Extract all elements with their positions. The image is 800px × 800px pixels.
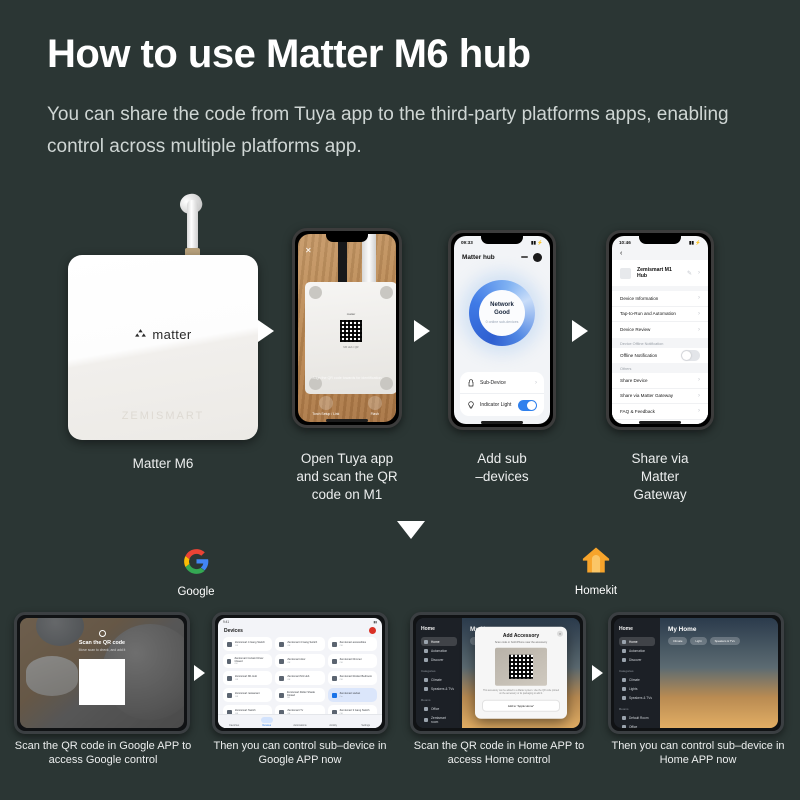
- tab-icon: [261, 717, 273, 723]
- settings-row[interactable]: FAQ & Feedback ›: [612, 404, 708, 420]
- sidebar-item-lights[interactable]: Lights: [619, 684, 655, 693]
- settings-row[interactable]: Share Device ›: [612, 373, 708, 389]
- network-status-ring: Network Good 0 online sub-devices: [454, 265, 550, 361]
- google-devices-screen: 9:41 ▮▮ Devices Zemismart 4 Gang SwitchO…: [218, 618, 382, 728]
- phone-notch: [639, 235, 681, 244]
- device-state: Off: [287, 697, 321, 699]
- discover-icon: [424, 658, 428, 662]
- google-logo-icon: [183, 548, 210, 575]
- sidebar-item-label: Climate: [629, 678, 640, 682]
- sidebar-item-label: Climate: [431, 678, 442, 682]
- main-header: My Home Climate Light Speakers & TVs: [660, 618, 778, 645]
- qr-code-on-device: [340, 320, 362, 342]
- caption-tablet-2: Then you can control sub–device in Googl…: [204, 739, 396, 767]
- device-card-text: Zemismart doorOff: [287, 658, 305, 663]
- row-label: Sub-Device: [480, 380, 530, 386]
- home-devices-screen: Home Home Automation Discover Categories: [614, 618, 778, 728]
- caption-step-4: Share via Matter Gateway: [592, 450, 728, 504]
- page-title: How to use Matter M6 hub: [47, 32, 531, 77]
- caption-step-2: Open Tuya app and scan the QR code on M1: [267, 450, 427, 504]
- sidebar-item-label: Speakers & TVs: [431, 687, 454, 691]
- indicator-light-toggle[interactable]: [518, 400, 537, 411]
- qr-code: [509, 655, 533, 679]
- device-state: Off: [235, 696, 260, 698]
- row-sub-device[interactable]: Sub-Device ›: [460, 372, 544, 394]
- caption-step-1: Matter M6: [73, 455, 253, 473]
- device-icon: [332, 676, 337, 681]
- settings-row[interactable]: Device Information ›: [612, 291, 708, 307]
- sidebar-title: Home: [421, 626, 457, 632]
- main-panel: My Home Climate Security Speakers & TVs …: [462, 618, 580, 728]
- sidebar-section-header: Categories: [619, 669, 655, 673]
- google-scan-screen: Scan the QR code Move scan to check, and…: [20, 618, 184, 728]
- back-button[interactable]: ‹: [612, 249, 708, 260]
- tab-label: Devices: [261, 724, 273, 727]
- status-time: 10:46: [619, 240, 631, 245]
- tablet-google-devices: 9:41 ▮▮ Devices Zemismart 4 Gang SwitchO…: [212, 612, 388, 734]
- device-header[interactable]: Zemismart M1 Hub ✎ ›: [612, 260, 708, 286]
- sidebar-item-speakers[interactable]: Speakers & TVs: [421, 684, 457, 693]
- device-card-text: Zemismart Curtain Driver ClosedOff: [234, 657, 268, 666]
- navbar-icons: [521, 253, 542, 262]
- page-subtitle: You can share the code from Tuya app to …: [47, 99, 747, 163]
- home-icon: [622, 640, 626, 644]
- device-icon: [227, 676, 232, 681]
- sidebar-item-climate[interactable]: Climate: [421, 675, 457, 684]
- plate-caption-text: M6 Hub / QR: [305, 346, 396, 349]
- sidebar-item-label: Home: [629, 640, 638, 644]
- ring-label: Network Good 0 online sub-devices: [454, 265, 550, 361]
- device-foot: [380, 286, 393, 299]
- scan-tool-label: Torch Setup / Link: [312, 412, 339, 416]
- plate-logo-text: matter: [305, 312, 396, 316]
- device-card[interactable]: Zemismart M1 HubOff: [223, 671, 272, 685]
- google-home-app: 9:41 ▮▮ Devices Zemismart 4 Gang SwitchO…: [218, 618, 382, 728]
- scan-tool-flash[interactable]: Flash: [368, 396, 382, 416]
- chevron-right-icon: ›: [698, 377, 700, 383]
- device-name: Zemismart M1 Hub: [287, 675, 309, 678]
- sidebar-item-label: Lights: [629, 687, 638, 691]
- device-icon: [227, 642, 232, 647]
- hub-actions-card: Sub-Device › Indicator Light: [460, 372, 544, 416]
- settings-group-3: Share Device › Share via Matter Gateway …: [612, 373, 708, 424]
- device-icon: [279, 642, 284, 647]
- scan-title: Scan the QR code: [79, 640, 125, 646]
- settings-row[interactable]: Device Review ›: [612, 322, 708, 338]
- app-navbar: Matter hub: [454, 249, 550, 265]
- device-icon: [227, 659, 231, 664]
- status-indicators: ▮▮ ⚡: [689, 240, 701, 246]
- bottom-tab-bar: FavoritesDevicesAutomationsActivitySetti…: [218, 714, 382, 728]
- phone-scan-qr: matter M6 Hub / QR ✕ Align the QR code t…: [292, 228, 402, 428]
- tab-label: Favorites: [228, 724, 240, 727]
- tablet-home-add-accessory: Home Home Automation Discover Categories: [410, 612, 586, 734]
- sidebar-section-header: Rooms: [619, 707, 655, 711]
- tab-icon: [327, 717, 339, 723]
- device-thumbnail: [620, 268, 631, 279]
- home-indicator: [639, 421, 681, 424]
- platform-label: Google: [166, 586, 226, 598]
- wood-table-background: matter M6 Hub / QR ✕ Align the QR code t…: [298, 234, 396, 422]
- sidebar-item-label: Discover: [431, 658, 443, 662]
- dialog-qr-area: [495, 648, 547, 686]
- sidebar: Home Home Automation Discover Categories: [416, 618, 462, 728]
- sidebar-item-label: Automation: [629, 649, 645, 653]
- arrow-step1-to-step2: [258, 320, 274, 342]
- sidebar-item-office[interactable]: Office: [421, 704, 457, 713]
- phone-scan-screen: matter M6 Hub / QR ✕ Align the QR code t…: [298, 234, 396, 422]
- device-name: Zemismart accessibles: [340, 641, 366, 644]
- row-label: Indicator Light: [480, 402, 513, 408]
- ring-line-2: Good: [494, 310, 510, 318]
- sidebar-item-label: Discover: [629, 658, 641, 662]
- device-state: Off: [287, 679, 309, 681]
- device-card-text: Zemismart 4 Gang SwitchOff: [235, 641, 265, 646]
- device-state: Off: [235, 645, 265, 647]
- settings-row[interactable]: Share via Matter Gateway ›: [612, 389, 708, 405]
- status-indicators: ▮▮ ⚡: [531, 240, 543, 246]
- sidebar-item-label: Default Room: [629, 716, 649, 720]
- tab-settings[interactable]: Settings: [360, 717, 372, 727]
- phone-matter-hub-app: 09:33 ▮▮ ⚡ Matter hub Network Good 0 o: [448, 230, 556, 430]
- settings-row[interactable]: Tap-to-Run and Automation ›: [612, 307, 708, 323]
- caption-step-3: Add sub –devices: [432, 450, 572, 486]
- chip-climate[interactable]: Climate: [668, 637, 687, 645]
- avatar[interactable]: [369, 627, 376, 634]
- device-card-text: Zemismart Roller Shade ClosedOff: [287, 691, 321, 700]
- phone-device-settings: 10:46 ▮▮ ⚡ ‹ Zemismart M1 Hub ✎ › Device…: [606, 230, 714, 430]
- device-icon: [279, 693, 284, 698]
- device-card-text: Zemismart Rocker BedroomOff: [340, 675, 372, 680]
- matter-logo: matter: [68, 327, 258, 342]
- arrow-down-to-platforms: [397, 521, 425, 539]
- discover-icon: [622, 658, 626, 662]
- home-indicator: [481, 421, 523, 424]
- sidebar-title: Home: [619, 626, 655, 632]
- device-icon: [332, 693, 337, 698]
- antenna-icon: [187, 200, 198, 252]
- home-icon: [424, 640, 428, 644]
- settings-screen: 10:46 ▮▮ ⚡ ‹ Zemismart M1 Hub ✎ › Device…: [612, 236, 708, 424]
- device-icon: [332, 642, 337, 647]
- device-card-text: Zemismart DimmerOff: [340, 658, 362, 663]
- device-card[interactable]: Zemismart accessiblesOff: [328, 637, 377, 651]
- sidebar-item-climate[interactable]: Climate: [619, 675, 655, 684]
- automation-icon: [424, 649, 428, 653]
- settings-row-offline-notification[interactable]: Offline Notification: [612, 348, 708, 364]
- settings-row-label: Offline Notification: [620, 353, 681, 358]
- add-to-apple-home-button[interactable]: Add to "Apple Home": [482, 700, 560, 712]
- sidebar-item-zemismart-room[interactable]: Zemismart room: [421, 713, 457, 726]
- dialog-title: Add Accessory: [482, 633, 560, 639]
- status-bar: 9:41 ▮▮: [218, 618, 382, 626]
- main-panel: My Home Climate Light Speakers & TVs Def…: [660, 618, 778, 728]
- device-state: Off: [234, 663, 268, 665]
- chevron-right-icon: ›: [698, 295, 700, 301]
- tab-devices[interactable]: Devices: [261, 717, 273, 727]
- offline-notification-toggle[interactable]: [681, 350, 700, 361]
- sidebar: Home Home Automation Discover Categories: [614, 618, 660, 728]
- row-indicator-light[interactable]: Indicator Light: [460, 394, 544, 416]
- sidebar-section-header: Categories: [421, 669, 457, 673]
- more-dots-icon[interactable]: [521, 256, 528, 258]
- device-card[interactable]: Zemismart restaurantOff: [223, 688, 272, 702]
- device-icon: [279, 676, 284, 681]
- light-icon: [622, 687, 626, 691]
- ring-subtext: 0 online sub-devices: [486, 320, 519, 324]
- scan-target-icon: [99, 630, 106, 637]
- device-name: Zemismart Rocker Bedroom: [340, 675, 372, 678]
- phone-notch: [481, 235, 523, 244]
- scan-tool-torch[interactable]: Torch Setup / Link: [312, 396, 339, 416]
- climate-icon: [424, 678, 428, 682]
- device-icon: [227, 693, 232, 698]
- chevron-right-icon: ›: [698, 270, 700, 276]
- scan-subtitle: Move scan to check, and add it: [79, 648, 126, 652]
- phone-notch: [326, 233, 368, 242]
- apple-home-app: Home Home Automation Discover Categories: [416, 618, 580, 728]
- room-icon: [622, 725, 626, 729]
- platform-google: Google: [166, 548, 226, 598]
- settings-group-2: Offline Notification: [612, 348, 708, 364]
- arrow-step2-to-step3: [414, 320, 430, 342]
- category-chips: Climate Light Speakers & TVs: [668, 637, 770, 645]
- device-card[interactable]: Zemismart 4 Gang SwitchOff: [223, 637, 272, 651]
- scan-toolbar: Torch Setup / Link Flash: [298, 396, 396, 416]
- tab-icon: [294, 717, 306, 723]
- device-card[interactable]: Zemismart M1 HubOff: [275, 671, 324, 685]
- room-icon: [424, 718, 428, 722]
- tab-icon: [228, 717, 240, 723]
- device-name: Zemismart M1 Hub: [637, 267, 681, 279]
- sidebar-item-label: Office: [629, 725, 637, 729]
- sidebar-item-discover[interactable]: Discover: [619, 655, 655, 664]
- arrow-step3-to-step4: [572, 320, 588, 342]
- torch-icon: [319, 396, 333, 410]
- device-state: Off: [287, 662, 305, 664]
- scan-overlay: Scan the QR code Move scan to check, and…: [20, 618, 184, 728]
- status-indicators: ▮▮: [373, 620, 377, 624]
- chip-speakers[interactable]: Speakers & TVs: [710, 637, 740, 645]
- settings-section-header: Device Offline Notification: [612, 338, 708, 348]
- dialog-subtitle: Scan code or hold iPhone near the access…: [482, 641, 560, 644]
- speaker-icon: [424, 687, 428, 691]
- chevron-right-icon: ›: [535, 380, 537, 386]
- settings-group-1: Device Information › Tap-to-Run and Auto…: [612, 291, 708, 338]
- tab-activity[interactable]: Activity: [327, 717, 339, 727]
- home-add-accessory-screen: Home Home Automation Discover Categories: [416, 618, 580, 728]
- device-card[interactable]: Zemismart Roller Shade ClosedOff: [275, 688, 324, 702]
- device-name: Zemismart 4 Gang Switch: [235, 641, 265, 644]
- device-card-text: Zemismart 4 Gang SwitchOff: [287, 641, 317, 646]
- climate-icon: [622, 678, 626, 682]
- device-settings-screen: 10:46 ▮▮ ⚡ ‹ Zemismart M1 Hub ✎ › Device…: [612, 236, 708, 424]
- device-card[interactable]: Zemismart DimmerOff: [328, 654, 377, 668]
- device-card-text: Zemismart accessiblesOff: [340, 641, 366, 646]
- tab-label: Automations: [293, 724, 306, 727]
- chip-light[interactable]: Light: [690, 637, 706, 645]
- sidebar-section-header: Rooms: [421, 698, 457, 702]
- matter-logo-text: matter: [152, 327, 191, 342]
- settings-row-label: FAQ & Feedback: [620, 409, 698, 414]
- device-card-text: Zemismart socketOn: [340, 692, 360, 697]
- sidebar-item-home[interactable]: Home: [421, 637, 457, 646]
- device-state: Off: [235, 679, 257, 681]
- device-name: Zemismart restaurant: [235, 692, 260, 695]
- devices-title: Devices: [224, 628, 243, 634]
- automation-icon: [622, 649, 626, 653]
- add-accessory-dialog: × Add Accessory Scan code or hold iPhone…: [475, 627, 567, 719]
- bulb-icon: [467, 401, 475, 409]
- device-icon: [332, 659, 337, 664]
- sidebar-item-label: Speakers & TVs: [629, 696, 652, 700]
- tablet-home-devices: Home Home Automation Discover Categories: [608, 612, 784, 734]
- settings-row-label: Device Information: [620, 296, 698, 301]
- device-card[interactable]: Zemismart Curtain Driver ClosedOff: [223, 654, 272, 668]
- device-state: Off: [287, 645, 317, 647]
- caption-tablet-3: Scan the QR code in Home APP to access H…: [404, 739, 594, 767]
- device-name: Zemismart Switch: [235, 709, 256, 712]
- home-indicator: [326, 419, 368, 422]
- scan-tool-label: Flash: [371, 412, 379, 416]
- sidebar-item-automation[interactable]: Automation: [619, 646, 655, 655]
- chevron-right-icon: ›: [698, 311, 700, 317]
- qr-code: [79, 659, 125, 705]
- device-name: Zemismart 4 Gang Switch: [287, 641, 317, 644]
- device-name: Zemismart Curtain Driver Closed: [234, 657, 268, 664]
- settings-row-label: Device Review: [620, 327, 698, 332]
- infographic-page: How to use Matter M6 hub You can share t…: [0, 0, 800, 800]
- device-state: Off: [340, 662, 362, 664]
- platform-label: Homekit: [566, 585, 626, 597]
- tab-label: Settings: [360, 724, 372, 727]
- speaker-icon: [622, 696, 626, 700]
- tab-favorites[interactable]: Favorites: [228, 717, 240, 727]
- gear-icon[interactable]: [533, 253, 542, 262]
- sidebar-item-default-room[interactable]: Default Room: [619, 713, 655, 722]
- homekit-house-icon: [581, 546, 611, 574]
- lock-icon: [467, 379, 475, 387]
- sidebar-item-label: Office: [431, 707, 439, 711]
- home-title: My Home: [668, 626, 770, 633]
- room-icon: [622, 716, 626, 720]
- apple-home-app: Home Home Automation Discover Categories: [614, 618, 778, 728]
- status-time: 09:33: [461, 240, 473, 245]
- device-foot: [309, 286, 322, 299]
- device-name: Zemismart Roller Shade Closed: [287, 691, 321, 698]
- sidebar-item-home[interactable]: Home: [619, 637, 655, 646]
- device-card[interactable]: Zemismart 4 Gang SwitchOff: [275, 637, 324, 651]
- chevron-right-icon: ›: [698, 393, 700, 399]
- hub-body: matter ZEMISMART: [68, 255, 258, 440]
- scan-hint-text: Align the QR code towards for identifica…: [298, 376, 396, 380]
- dialog-note: This accessory can be added to a Matter …: [482, 690, 560, 696]
- sidebar-item-discover[interactable]: Discover: [421, 655, 457, 664]
- sidebar-item-label: Home: [431, 640, 440, 644]
- tab-automations[interactable]: Automations: [293, 717, 306, 727]
- chevron-right-icon: ›: [698, 408, 700, 414]
- app-title: Matter hub: [462, 254, 495, 261]
- close-icon[interactable]: ×: [557, 631, 563, 637]
- devices-header: Devices: [218, 626, 382, 637]
- sidebar-item-automation[interactable]: Automation: [421, 646, 457, 655]
- status-time: 9:41: [223, 620, 229, 624]
- caption-tablet-4: Then you can control sub–device in Home …: [602, 739, 794, 767]
- device-card[interactable]: Zemismart doorOff: [275, 654, 324, 668]
- room-icon: [424, 707, 428, 711]
- device-state: On: [340, 696, 360, 698]
- chevron-right-icon: ›: [698, 327, 700, 333]
- tab-icon: [360, 717, 372, 723]
- matter-mark-icon: [134, 328, 147, 341]
- settings-section-header: Others: [612, 363, 708, 373]
- sidebar-item-label: Automation: [431, 649, 447, 653]
- caption-tablet-1: Scan the QR code in Google APP to access…: [8, 739, 198, 767]
- settings-row-label: Share via Matter Gateway: [620, 393, 698, 398]
- device-card-text: Zemismart M1 HubOff: [287, 675, 309, 680]
- settings-row-label: Tap-to-Run and Automation: [620, 311, 698, 316]
- arrow-tablet3-to-tablet4: [592, 665, 603, 681]
- arrow-tablet1-to-tablet2: [194, 665, 205, 681]
- device-card-text: Zemismart M1 HubOff: [235, 675, 257, 680]
- device-card[interactable]: Zemismart Rocker BedroomOff: [328, 671, 377, 685]
- matter-m6-hub-image: matter ZEMISMART: [68, 200, 258, 440]
- sidebar-item-office[interactable]: Office: [619, 722, 655, 728]
- device-name: Zemismart 3 Gang Switch: [340, 709, 370, 712]
- flash-icon: [368, 396, 382, 410]
- device-card-text: Zemismart restaurantOff: [235, 692, 260, 697]
- device-icon: [279, 659, 284, 664]
- ring-line-1: Network: [490, 302, 514, 310]
- matter-hub-screen: 09:33 ▮▮ ⚡ Matter hub Network Good 0 o: [454, 236, 550, 424]
- tab-label: Activity: [327, 724, 339, 727]
- device-state: Off: [340, 645, 366, 647]
- ios-screen: 09:33 ▮▮ ⚡ Matter hub Network Good 0 o: [454, 236, 550, 424]
- settings-row-label: Share Device: [620, 378, 698, 383]
- device-state: Off: [340, 679, 372, 681]
- device-name: Zemismart M1 Hub: [235, 675, 257, 678]
- device-card[interactable]: Zemismart socketOn: [328, 688, 377, 702]
- pencil-icon[interactable]: ✎: [687, 270, 692, 277]
- hub-brand-text: ZEMISMART: [68, 410, 258, 422]
- close-icon[interactable]: ✕: [305, 246, 312, 255]
- sidebar-item-label: Zemismart room: [431, 716, 454, 724]
- sidebar-item-speakers[interactable]: Speakers & TVs: [619, 693, 655, 702]
- tablet-google-scan: Scan the QR code Move scan to check, and…: [14, 612, 190, 734]
- platform-homekit: Homekit: [566, 546, 626, 597]
